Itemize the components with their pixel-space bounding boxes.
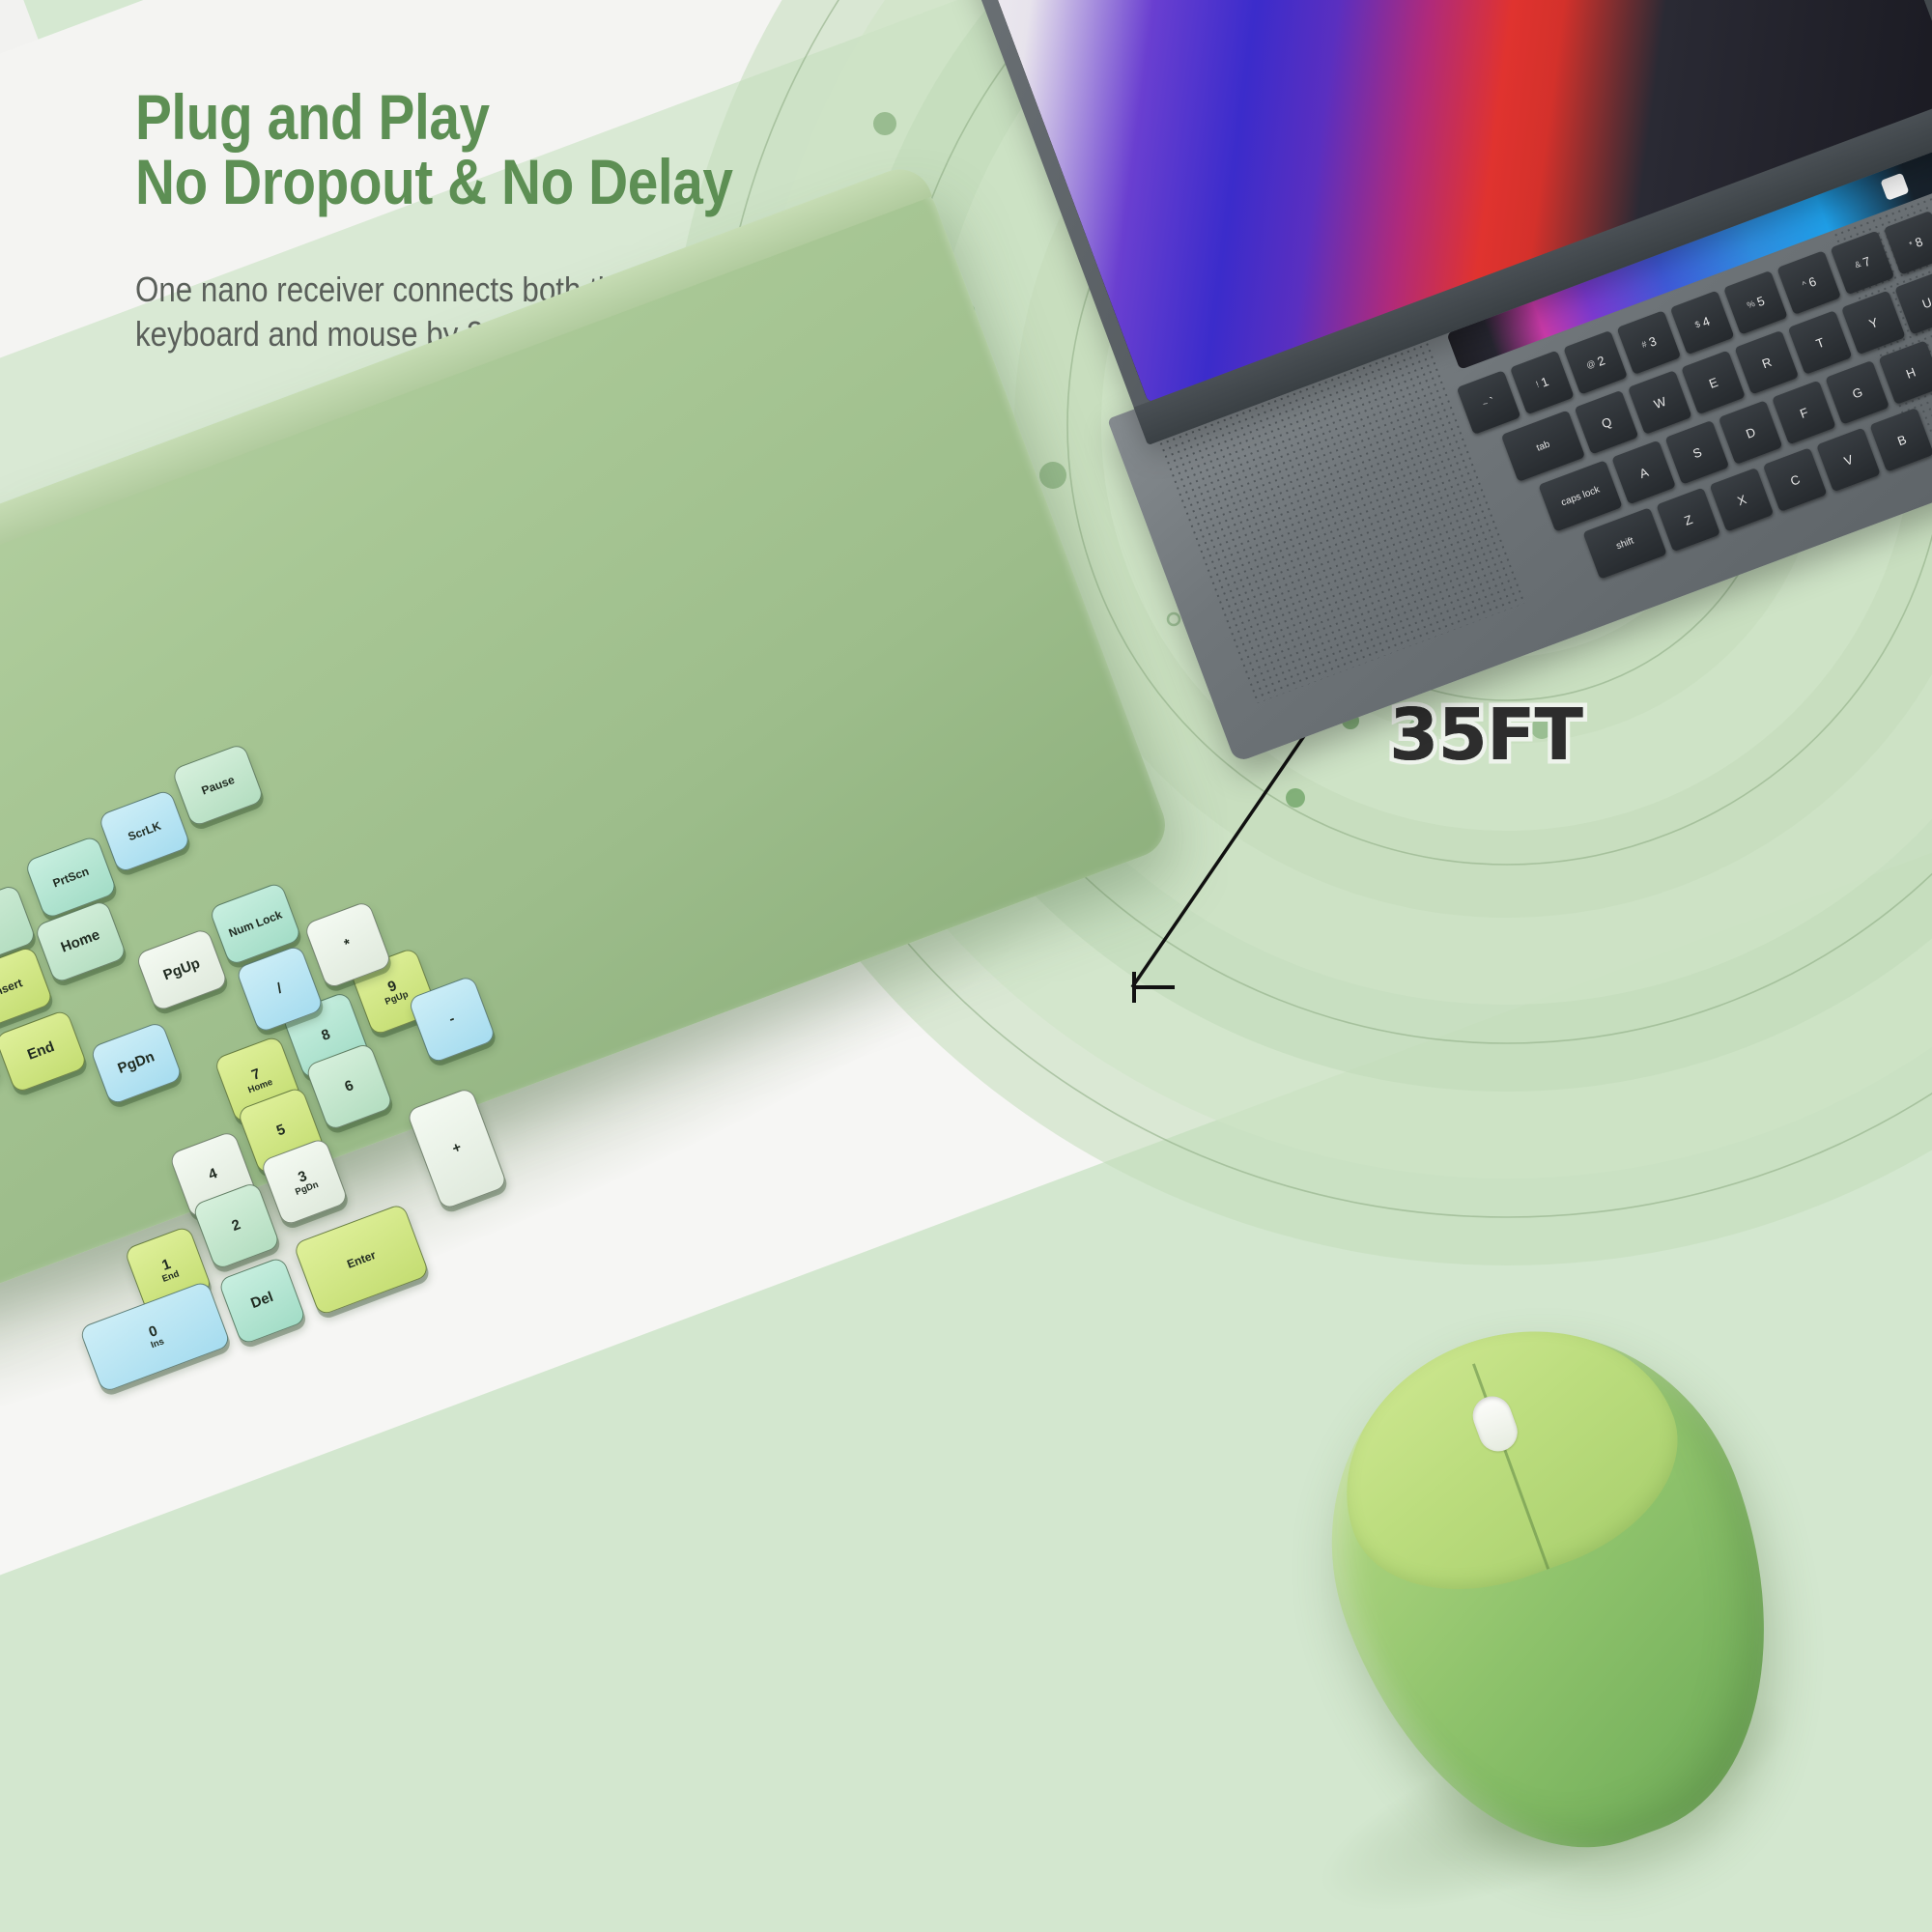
key-primary-label: Home: [59, 927, 102, 955]
laptop-key[interactable]: Z: [1656, 487, 1720, 552]
key-primary-label: PrtScn: [51, 865, 91, 889]
key-primary-label: 8: [320, 1027, 332, 1044]
laptop-key[interactable]: #3: [1616, 310, 1681, 375]
laptop-key-secondary-label: ^: [1801, 279, 1807, 290]
laptop-key-secondary-label: #: [1640, 339, 1648, 350]
laptop-key[interactable]: S: [1664, 420, 1729, 485]
laptop-key-label: U: [1920, 295, 1932, 311]
key-primary-label: PgUp: [161, 956, 202, 983]
keyboard-key[interactable]: PgUp: [135, 927, 229, 1012]
key-secondary-label: Home: [247, 1078, 274, 1096]
laptop-key[interactable]: V: [1816, 428, 1881, 493]
product-marketing-image: 35FT 35FT Plug and Play No Dropout & No …: [0, 0, 1932, 1932]
laptop-key-secondary-label: $: [1693, 319, 1701, 329]
laptop-key[interactable]: ^6: [1776, 250, 1841, 315]
laptop-key[interactable]: Y: [1841, 290, 1906, 355]
laptop-key-label: 4: [1700, 313, 1712, 329]
headline-line-2: No Dropout & No Delay: [135, 150, 733, 214]
laptop-key-label: H: [1904, 364, 1918, 381]
laptop-key-secondary-label: %: [1746, 298, 1756, 310]
laptop-key-secondary-label: *: [1908, 240, 1915, 250]
touchbar-key[interactable]: [1880, 173, 1909, 201]
laptop-key[interactable]: D: [1719, 400, 1783, 465]
key-primary-label: +: [450, 1140, 464, 1157]
page-title: Plug and Play No Dropout & No Delay: [135, 85, 733, 215]
laptop-key-label: A: [1637, 464, 1650, 480]
laptop-key[interactable]: W: [1628, 370, 1692, 435]
laptop-key[interactable]: F: [1772, 381, 1836, 445]
laptop-key-label: W: [1652, 393, 1668, 411]
key-primary-label: *: [343, 937, 354, 953]
laptop-key-label: C: [1788, 471, 1802, 488]
laptop-key-label: V: [1842, 451, 1855, 468]
key-primary-label: Num Lock: [227, 908, 284, 939]
key-primary-label: PgDn: [116, 1049, 156, 1076]
laptop-key-label: Z: [1682, 512, 1694, 528]
laptop-key-secondary-label: ~: [1481, 398, 1489, 409]
laptop-key-label: D: [1744, 424, 1757, 440]
laptop-key[interactable]: A: [1611, 440, 1676, 505]
laptop-key-label: R: [1760, 355, 1774, 371]
key-primary-label: Insert: [0, 977, 24, 999]
laptop-key[interactable]: %5: [1723, 270, 1788, 335]
laptop-key-label: 3: [1647, 333, 1659, 350]
headline-line-1: Plug and Play: [135, 85, 733, 150]
key-secondary-label: Ins: [150, 1338, 165, 1351]
laptop-key-label: 6: [1806, 273, 1818, 290]
laptop-key[interactable]: G: [1825, 360, 1889, 425]
key-primary-label: /: [275, 981, 284, 997]
laptop-key[interactable]: ~`: [1457, 370, 1521, 435]
laptop-key-label: G: [1850, 384, 1864, 402]
keyboard-key[interactable]: End: [0, 1009, 88, 1094]
laptop-key-label: T: [1814, 334, 1827, 351]
key-primary-label: -: [447, 1011, 457, 1028]
laptop-key[interactable]: $4: [1670, 291, 1735, 355]
laptop-key-label: Y: [1867, 314, 1880, 330]
key-secondary-label: PgDn: [295, 1180, 321, 1198]
key-primary-label: 6: [343, 1078, 355, 1095]
key-primary-label: 4: [207, 1166, 219, 1183]
key-primary-label: Enter: [345, 1249, 377, 1271]
laptop-key-secondary-label: !: [1535, 380, 1541, 389]
key-secondary-label: PgUp: [384, 990, 411, 1008]
laptop-key[interactable]: E: [1681, 350, 1746, 414]
laptop-key[interactable]: X: [1709, 468, 1774, 532]
laptop-key-label: X: [1735, 492, 1747, 508]
key-primary-label: 2: [230, 1217, 242, 1235]
laptop-key-label: shift: [1615, 535, 1635, 552]
laptop-key[interactable]: B: [1869, 408, 1932, 472]
keyboard-key[interactable]: ScrLK: [98, 788, 191, 873]
status-badge: 35FT: [1389, 694, 1582, 777]
laptop-key[interactable]: @2: [1563, 330, 1628, 395]
laptop-key-secondary-label: @: [1585, 358, 1597, 371]
laptop-key-label: tab: [1535, 439, 1551, 453]
laptop-key[interactable]: R: [1734, 330, 1799, 395]
laptop-key-label: caps lock: [1560, 484, 1602, 508]
laptop-key-label: 1: [1539, 374, 1550, 390]
key-primary-label: ScrLK: [127, 819, 163, 842]
laptop-key-label: E: [1707, 374, 1719, 390]
laptop-key-label: F: [1798, 405, 1810, 421]
laptop-key-secondary-label: &: [1854, 259, 1862, 270]
key-primary-label: End: [26, 1039, 57, 1064]
laptop-key-label: 7: [1861, 253, 1872, 270]
laptop-key-label: S: [1690, 444, 1703, 461]
key-primary-label: Del: [249, 1290, 275, 1312]
keyboard-key[interactable]: Pause: [171, 743, 265, 828]
laptop-key[interactable]: !1: [1510, 350, 1575, 414]
laptop-key-label: B: [1895, 432, 1908, 448]
laptop-key-label: 2: [1595, 353, 1606, 369]
laptop-key-label: Q: [1600, 413, 1614, 431]
laptop-key[interactable]: T: [1788, 310, 1853, 375]
laptop-key[interactable]: H: [1878, 340, 1932, 405]
laptop-key-label: 5: [1755, 293, 1767, 309]
laptop-key[interactable]: Q: [1575, 390, 1639, 455]
key-primary-label: Pause: [200, 774, 237, 797]
keyboard-key[interactable]: PgDn: [89, 1021, 183, 1106]
laptop-key[interactable]: C: [1763, 447, 1828, 512]
key-primary-label: 5: [274, 1122, 287, 1140]
laptop-key[interactable]: shift: [1582, 507, 1667, 580]
